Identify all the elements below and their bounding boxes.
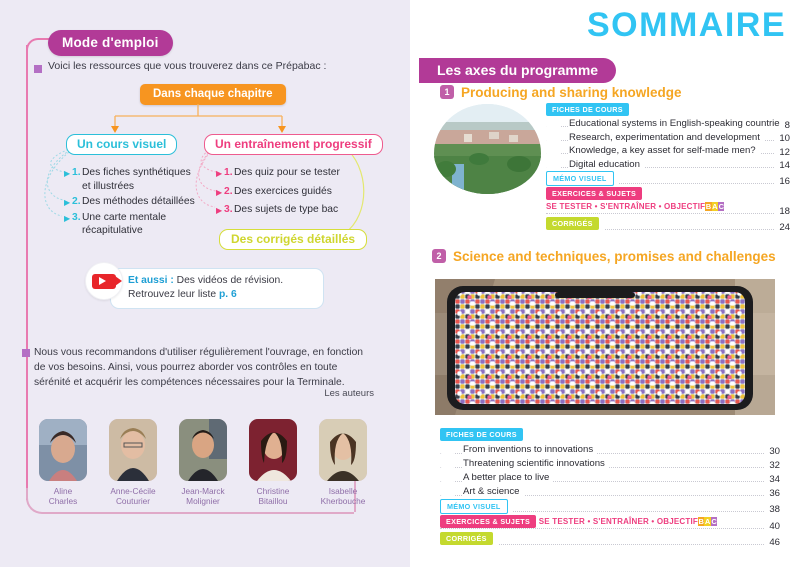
toc-tag-row: FICHES DE COURS [440,428,780,443]
tag-wrap: MÉMO VISUEL [546,171,619,186]
entry-number: 7 [440,471,455,482]
entry-page: 40 [764,521,780,532]
memo-visuel-tag: MÉMO VISUEL [546,171,614,186]
table-row[interactable]: 3Knowledge, a key asset for self-made me… [546,144,790,158]
entry-label: Art & science [463,486,524,497]
section-number-badge: 1 [440,85,454,99]
entry-number: 2 [546,131,561,142]
list-item-label: Des méthodes détaillées [82,196,195,207]
entry-page: 46 [764,537,780,548]
table-row[interactable]: SE TESTER • S'ENTRAÎNER • OBJECTIFBAC 18 [546,201,790,217]
author-name: Christine Bitaillou [246,486,300,506]
list-item-label-cont: et illustrées [82,181,134,192]
arrow-icon: ▶ [216,204,222,218]
entry-number: 4 [546,158,561,169]
exercices-sujets-tag: EXERCICES & SUJETS [546,187,642,200]
left-page: Mode d'emploi Voici les ressources que v… [0,0,410,567]
mindmap-trunk [26,45,28,500]
tag-wrap: EXERCICES & SUJETS SE TESTER • S'ENTRAÎN… [440,515,722,528]
bullet-square-icon [34,65,42,73]
section-2-heading: 2Science and techniques, promises and ch… [432,249,776,264]
video-callout-line2: Retrouvez leur liste [128,289,219,300]
avatar [39,419,87,481]
list-item-label: Des quiz pour se tester [234,167,340,178]
entry-page: 16 [774,176,790,187]
list-item: ▶ 2. Des méthodes détaillées [64,195,204,209]
list-item: ▶ 1. Des fiches synthétiques et illustré… [64,166,204,193]
spread-page: Mode d'emploi Voici les ressources que v… [0,0,800,567]
avatar [249,419,297,481]
toc-tag-row: FICHES DE COURS [546,103,790,117]
table-row[interactable]: 1Educational systems in English-speaking… [546,117,790,131]
video-callout-page-ref: p. 6 [219,289,237,300]
author-card: Jean-Marck Molignier [176,419,230,506]
table-row[interactable]: 8Art & science 36 [440,485,780,499]
author-last: Charles [49,496,78,506]
avatar [109,419,157,481]
list-item-number: 3. [72,211,81,225]
list-item-label-cont: récapitulative [82,225,143,236]
author-card: Anne-Cécile Couturier [106,419,160,506]
tag-wrap: SE TESTER • S'ENTRAÎNER • OBJECTIFBAC [546,201,729,212]
entry-number: 6 [440,457,455,468]
author-last: Couturier [116,496,150,506]
entry-label: Threatening scientific innovations [463,458,609,469]
table-row[interactable]: MÉMO VISUEL 38 [440,499,780,515]
entry-page: 18 [774,206,790,217]
author-card: Aline Charles [36,419,90,506]
corriges-tag: CORRIGÉS [546,217,599,230]
list-item: ▶ 3. Des sujets de type bac [216,203,366,217]
course-list: ▶ 1. Des fiches synthétiques et illustré… [64,166,204,240]
entry-page: 30 [764,446,780,457]
recommendation-paragraph: Nous vous recommandons d'utiliser réguli… [34,345,374,390]
tag-wrap: MÉMO VISUEL [440,499,513,514]
page-title: SOMMAIRE [587,6,786,45]
box-des-corriges-detailles: Des corrigés détaillés [219,229,367,250]
tag-wrap: CORRIGÉS [440,532,498,545]
list-item-label: Des sujets de type bac [234,204,338,215]
list-item-number: 2. [72,195,81,209]
entry-page: 12 [774,147,790,158]
entry-page: 8 [780,120,790,131]
list-item-number: 3. [224,203,233,217]
list-item: ▶ 2. Des exercices guidés [216,185,366,199]
author-card: Christine Bitaillou [246,419,300,506]
intro-text: Voici les ressources que vous trouverez … [48,60,326,72]
section-2-image [435,279,775,415]
author-name: Isabelle Kherbouche [316,486,370,506]
table-row[interactable]: 7A better place to live 34 [440,471,780,485]
entry-page: 24 [774,222,790,233]
video-camera-glyph [92,274,116,289]
objectif-bac-badge: BAC [698,517,717,526]
exercices-sujets-tag: EXERCICES & SUJETS [440,515,536,528]
exercices-line: SE TESTER • S'ENTRAÎNER • OBJECTIF [546,202,705,211]
author-first: Anne-Cécile [110,486,155,496]
list-item: ▶ 1. Des quiz pour se tester [216,166,366,180]
avatar [319,419,367,481]
author-first: Jean-Marck [181,486,224,496]
leader-dots [546,213,790,214]
bullet-square-icon [22,349,30,357]
fiches-de-cours-tag: FICHES DE COURS [546,103,629,116]
tag-wrap: EXERCICES & SUJETS [546,187,647,200]
author-name: Anne-Cécile Couturier [106,486,160,506]
author-name: Jean-Marck Molignier [176,486,230,506]
table-row[interactable]: 5From inventions to innovations 30 [440,443,780,457]
signature: Les auteurs [34,388,374,399]
entry-label: Educational systems in English-speaking … [569,118,788,129]
box-dans-chaque-chapitre: Dans chaque chapitre [140,84,286,105]
entry-page: 38 [764,504,780,515]
recommendation-text: Nous vous recommandons d'utiliser réguli… [34,347,363,388]
toc-tag-row: EXERCICES & SUJETS [546,187,790,201]
table-row[interactable]: 6Threatening scientific innovations 32 [440,457,780,471]
mode-demploi-badge: Mode d'emploi [48,30,173,56]
entry-page: 10 [774,133,790,144]
video-callout-text: Et aussi : Des vidéos de révision. Retro… [128,274,283,302]
list-item-number: 1. [72,166,81,180]
section-number-badge: 2 [432,249,446,263]
video-callout-line1: Des vidéos de révision. [174,275,283,286]
video-camera-icon [85,262,123,300]
arrow-icon: ▶ [64,167,70,181]
right-page: SOMMAIRE Les axes du programme 1Producin… [410,0,800,567]
arrow-icon: ▶ [64,212,70,226]
author-last: Bitaillou [258,496,287,506]
training-list: ▶ 1. Des quiz pour se tester ▶ 2. Des ex… [216,166,366,219]
table-row[interactable]: CORRIGÉS 24 [546,217,790,233]
box-un-cours-visuel: Un cours visuel [66,134,177,155]
tag-wrap: FICHES DE COURS [440,428,528,441]
entry-label: From inventions to innovations [463,444,597,455]
mindmap-trunk-top [26,38,50,56]
corriges-tag: CORRIGÉS [440,532,493,545]
section-title: Science and techniques, promises and cha… [453,249,776,264]
entry-label: Knowledge, a key asset for self-made men… [569,145,760,156]
list-item-label: Des fiches synthétiques [82,167,191,178]
tag-wrap: CORRIGÉS [546,217,604,230]
box-un-entrainement-progressif: Un entraînement progressif [204,134,383,155]
axes-du-programme-header: Les axes du programme [419,58,616,83]
entry-page: 36 [764,488,780,499]
entry-number: 8 [440,485,455,496]
arrow-icon: ▶ [64,196,70,210]
section-1-image [434,104,541,194]
table-row[interactable]: CORRIGÉS 46 [440,532,780,548]
entry-number: 3 [546,144,561,155]
author-last: Kherbouche [321,496,366,506]
table-row[interactable]: EXERCICES & SUJETS SE TESTER • S'ENTRAÎN… [440,515,780,532]
entry-page: 32 [764,460,780,471]
avatar [179,419,227,481]
table-row[interactable]: 4Digital education 14 [546,158,790,172]
entry-label: Digital education [569,159,644,170]
author-card: Isabelle Kherbouche [316,419,370,506]
memo-visuel-tag: MÉMO VISUEL [440,499,508,514]
list-item-label: Des exercices guidés [234,186,332,197]
arrow-icon: ▶ [216,186,222,200]
entry-number: 5 [440,443,455,454]
section-1-toc: FICHES DE COURS 1Educational systems in … [546,103,790,233]
list-item-label: Une carte mentale [82,212,166,223]
author-first: Aline [54,486,72,496]
table-row[interactable]: 2Research, experimentation and developme… [546,131,790,145]
entry-page: 34 [764,474,780,485]
tag-wrap: FICHES DE COURS [546,103,634,116]
section-2-toc: FICHES DE COURS 5From inventions to inno… [440,428,780,548]
list-item: ▶ 3. Une carte mentale récapitulative [64,211,204,238]
entry-label: A better place to live [463,472,553,483]
list-item-number: 1. [224,166,233,180]
table-row[interactable]: MÉMO VISUEL 16 [546,171,790,187]
video-callout-label: Et aussi : [128,275,174,286]
fiches-de-cours-tag: FICHES DE COURS [440,428,523,441]
author-last: Molignier [186,496,220,506]
entry-label: Research, experimentation and developmen… [569,132,764,143]
objectif-bac-badge: BAC [705,202,724,211]
list-item-number: 2. [224,185,233,199]
arrow-icon: ▶ [216,167,222,181]
author-first: Christine [257,486,290,496]
author-first: Isabelle [329,486,358,496]
entry-page: 14 [774,160,790,171]
entry-number: 1 [546,117,561,128]
section-title: Producing and sharing knowledge [461,85,682,100]
section-1-heading: 1Producing and sharing knowledge [440,85,682,100]
author-name: Aline Charles [36,486,90,506]
exercices-line: SE TESTER • S'ENTRAÎNER • OBJECTIF [539,517,698,526]
